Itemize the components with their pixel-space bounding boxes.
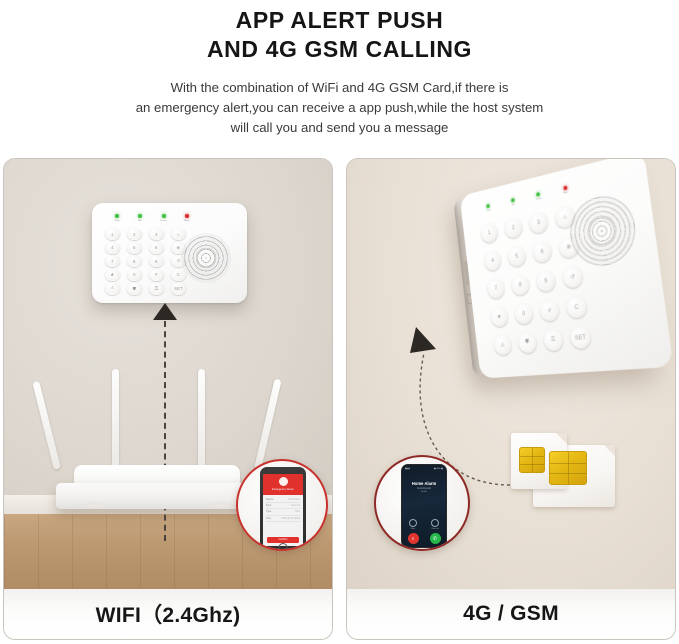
detail-value: Zone 01 — [291, 504, 300, 507]
keypad-key[interactable]: 3 — [528, 210, 549, 234]
keypad-key[interactable]: ⚠ — [105, 282, 120, 294]
router-foot — [212, 502, 228, 508]
status-right: ▮▮ 4G ▮▮ — [434, 467, 443, 470]
keypad-key[interactable]: C — [171, 269, 186, 281]
led-label: Arm — [511, 203, 514, 205]
detail-label: Device — [266, 498, 273, 501]
keypad-button-grid: 123⌂456⊗789↺★0#C⚠⛊⚿SET — [105, 228, 193, 296]
panels-container: Power Arm Disarm Alarm — [0, 158, 679, 640]
led-arm: Arm — [505, 197, 521, 207]
led-label: Power — [114, 220, 120, 222]
sim-notch — [556, 433, 567, 444]
arm-led-icon — [511, 198, 515, 203]
keypad-key[interactable]: 7 — [486, 277, 505, 299]
keypad-key[interactable]: 8 — [127, 255, 142, 267]
keypad-key[interactable]: 2 — [127, 228, 142, 240]
panel-gsm: Power Arm Disarm — [346, 158, 676, 640]
keypad-key[interactable]: 6 — [532, 240, 553, 264]
phone-screen: Emergency Alarm DeviceHost AlarmZoneZone… — [263, 474, 303, 546]
alert-banner: Emergency Alarm — [263, 474, 303, 495]
panel-wifi: Power Arm Disarm Alarm — [3, 158, 333, 640]
call-subtitle-2: Mobile — [402, 491, 446, 493]
led-label: Alarm — [184, 220, 189, 222]
led-arm: Arm — [131, 214, 149, 222]
led-alarm: Alarm — [178, 214, 196, 222]
gsm-scene: Power Arm Disarm — [347, 159, 675, 591]
led-indicator-row: Power Arm Disarm Alarm — [108, 214, 196, 222]
detail-value: SOS — [295, 510, 300, 513]
sim-chip-contacts — [519, 447, 545, 473]
router-base — [56, 483, 258, 509]
keypad-key[interactable]: SET — [569, 326, 591, 349]
disarm-led-icon — [536, 192, 540, 197]
led-disarm: Disarm — [155, 214, 173, 222]
power-led-icon — [115, 214, 119, 218]
keypad-key[interactable]: ⚿ — [543, 329, 564, 352]
gsm-label-strip: 4G / GSM — [347, 589, 675, 639]
disarm-led-icon — [162, 214, 166, 218]
detail-label: Zone — [266, 504, 271, 507]
action-label: Mute — [411, 528, 415, 530]
keypad-key[interactable]: 2 — [504, 216, 524, 239]
sim-cards-group — [507, 431, 637, 521]
keypad-key[interactable]: 1 — [105, 228, 120, 240]
keypad-key[interactable]: # — [149, 269, 164, 281]
smartphone-incoming-call: ▮▮▮▮ ▮▮ 4G ▮▮ Home Alarm Incoming call M… — [401, 464, 447, 548]
led-label: Disarm — [536, 197, 542, 200]
action-label: Remind — [432, 528, 439, 530]
router-antenna — [198, 369, 205, 469]
led-power: Power — [108, 214, 126, 222]
subtitle-line-1: With the combination of WiFi and 4G GSM … — [0, 78, 679, 98]
call-subtitle: Incoming call — [402, 488, 446, 490]
keypad-key[interactable]: 9 — [149, 255, 164, 267]
sim-chip-contacts — [549, 451, 587, 485]
keypad-key[interactable]: ⛊ — [127, 282, 142, 294]
keypad-key[interactable]: ⌂ — [554, 205, 576, 230]
alarm-led-icon — [185, 214, 189, 218]
led-power: Power — [481, 203, 496, 213]
keypad-key[interactable]: 7 — [105, 255, 120, 267]
led-label: Power — [486, 209, 491, 212]
gsm-label: 4G / GSM — [463, 602, 559, 626]
keypad-key[interactable]: ★ — [105, 269, 120, 281]
keypad-key[interactable]: SET — [171, 282, 186, 294]
led-alarm: Alarm — [557, 184, 574, 195]
alert-detail-list: DeviceHost AlarmZoneZone 01TypeSOSTime20… — [263, 495, 303, 535]
led-label: Disarm — [161, 220, 167, 222]
keypad-key[interactable]: 4 — [483, 249, 502, 271]
subtitle-line-2: an emergency alert,you can receive a app… — [0, 98, 679, 118]
led-label: Alarm — [564, 191, 569, 194]
keypad-key[interactable]: 4 — [105, 242, 120, 254]
title-line-2: AND 4G GSM CALLING — [0, 35, 679, 64]
keypad-key[interactable]: ⚿ — [149, 282, 164, 294]
title-line-1: APP ALERT PUSH — [236, 7, 444, 33]
keypad-key[interactable]: C — [566, 295, 588, 319]
alarm-keypad-device: Power Arm Disarm Alarm — [92, 203, 247, 303]
keypad-key[interactable]: 6 — [149, 242, 164, 254]
alert-detail-row: Time2023-10-11 09:24 — [266, 516, 300, 522]
keypad-key[interactable]: 8 — [510, 273, 530, 296]
clock-icon — [431, 519, 439, 527]
wifi-scene: Power Arm Disarm Alarm — [4, 159, 332, 591]
caller-name: Home Alarm — [402, 481, 446, 486]
call-buttons: ⌕ ✆ — [402, 533, 446, 544]
detail-label: Time — [266, 517, 271, 520]
status-left: ▮▮▮▮ — [405, 467, 410, 470]
power-led-icon — [486, 204, 490, 208]
smartphone-app-alert: Emergency Alarm DeviceHost AlarmZoneZone… — [260, 467, 306, 551]
keypad-key[interactable]: 1 — [480, 221, 499, 244]
app-alert-callout: Emergency Alarm DeviceHost AlarmZoneZone… — [236, 459, 328, 551]
page-subtitle: With the combination of WiFi and 4G GSM … — [0, 78, 679, 138]
keypad-key[interactable]: 0 — [127, 269, 142, 281]
detail-value: 2023-10-11 09:24 — [281, 517, 300, 520]
wifi-label-strip: WIFI（2.4Ghz) — [4, 589, 332, 639]
alert-title: Emergency Alarm — [265, 488, 301, 491]
led-label: Arm — [139, 220, 143, 222]
led-indicator-row: Power Arm Disarm — [481, 184, 574, 213]
wifi-label: WIFI（2.4Ghz) — [96, 599, 241, 629]
accept-call-button[interactable]: ✆ — [430, 533, 441, 544]
mute-action[interactable]: Mute — [409, 519, 417, 530]
page-title: APP ALERT PUSH AND 4G GSM CALLING — [0, 0, 679, 64]
call-actions: Mute Remind — [402, 519, 446, 530]
keypad-key[interactable]: 5 — [507, 245, 527, 268]
remind-action[interactable]: Remind — [431, 519, 439, 530]
chip-contact-line — [532, 448, 533, 472]
arrow-head-icon — [410, 327, 436, 353]
router-antenna — [112, 369, 119, 469]
chip-contact-line — [568, 452, 569, 484]
keypad-key[interactable]: ⌂ — [171, 228, 186, 240]
speaker-grille-icon — [567, 190, 640, 270]
keypad-key[interactable]: 9 — [535, 269, 556, 292]
keypad-key[interactable]: ⊗ — [558, 235, 580, 259]
detail-value: Host Alarm — [288, 498, 300, 501]
mute-icon — [409, 519, 417, 527]
arrow-head-icon — [153, 303, 177, 320]
arm-led-icon — [138, 214, 142, 218]
status-bar: ▮▮▮▮ ▮▮ 4G ▮▮ — [402, 465, 446, 470]
sim-notch — [604, 445, 615, 456]
subtitle-line-3: will call you and send you a message — [0, 118, 679, 138]
keypad-key[interactable]: # — [539, 299, 560, 322]
keypad-key[interactable]: 5 — [127, 242, 142, 254]
led-disarm: Disarm — [530, 191, 546, 202]
keypad-key[interactable]: ↺ — [562, 265, 584, 289]
header: APP ALERT PUSH AND 4G GSM CALLING With t… — [0, 0, 679, 150]
incoming-call-callout: ▮▮▮▮ ▮▮ 4G ▮▮ Home Alarm Incoming call M… — [374, 455, 470, 551]
infographic-page: APP ALERT PUSH AND 4G GSM CALLING With t… — [0, 0, 679, 644]
detail-label: Type — [266, 510, 271, 513]
home-button-icon[interactable] — [279, 543, 288, 552]
router-foot — [86, 502, 102, 508]
bell-icon — [279, 477, 288, 486]
keypad-key[interactable]: 3 — [149, 228, 164, 240]
speaker-grille-icon — [181, 233, 231, 283]
alarm-led-icon — [563, 186, 567, 191]
decline-call-button[interactable]: ⌕ — [408, 533, 419, 544]
